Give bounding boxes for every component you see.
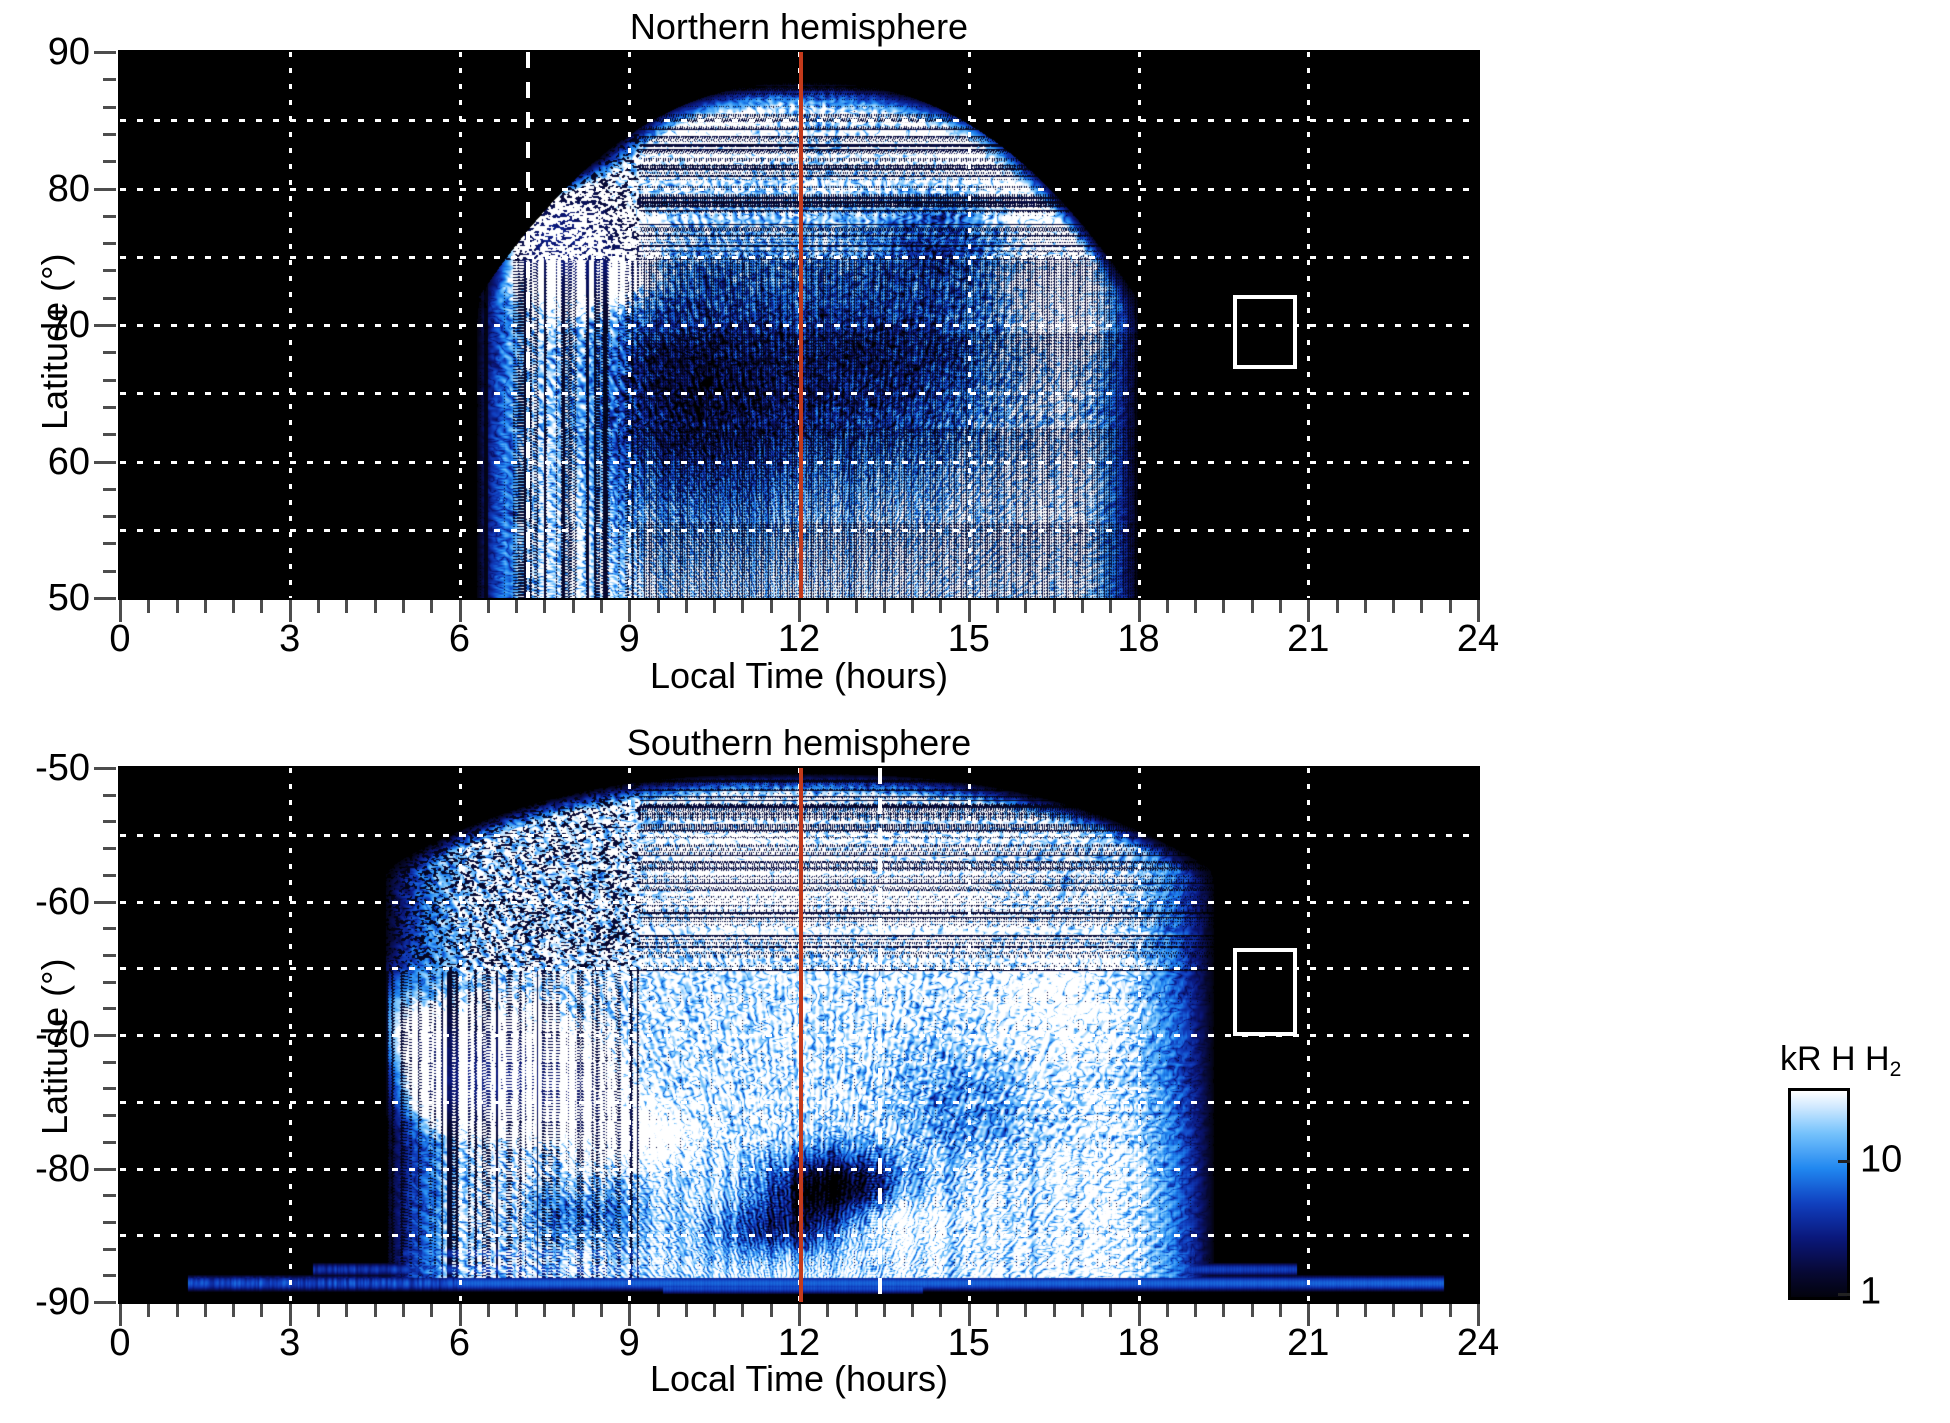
- y-tick-major: [94, 324, 116, 327]
- y-tick-label: -90: [0, 1283, 90, 1321]
- y-tick-label: -60: [0, 883, 90, 921]
- yaxis-title-south: Latitude (°): [34, 959, 76, 1135]
- x-tick-label: 12: [778, 620, 820, 658]
- x-tick-label: 0: [109, 620, 130, 658]
- x-tick-minor: [374, 600, 377, 613]
- x-tick-minor: [147, 600, 150, 613]
- x-tick-major: [289, 600, 292, 622]
- y-tick-minor: [103, 794, 116, 797]
- plot-south: [118, 766, 1480, 1304]
- y-tick-minor: [103, 515, 116, 518]
- colorbar-title-subscript: 2: [1890, 1058, 1902, 1081]
- x-tick-minor: [1336, 1304, 1339, 1317]
- x-tick-minor: [402, 600, 405, 613]
- x-tick-label: 18: [1117, 1324, 1159, 1362]
- x-tick-minor: [572, 1304, 575, 1317]
- x-tick-minor: [713, 1304, 716, 1317]
- y-tick-major: [94, 767, 116, 770]
- y-tick-minor: [103, 847, 116, 850]
- y-tick-minor: [103, 215, 116, 218]
- y-tick-minor: [103, 1248, 116, 1251]
- colorbar-gradient: [1788, 1088, 1850, 1300]
- x-tick-minor: [1024, 600, 1027, 613]
- x-tick-minor: [1449, 600, 1452, 613]
- x-tick-minor: [657, 600, 660, 613]
- y-tick-minor: [103, 1061, 116, 1064]
- y-tick-minor: [103, 1087, 116, 1090]
- x-tick-minor: [176, 1304, 179, 1317]
- x-tick-minor: [487, 1304, 490, 1317]
- x-tick-label: 15: [948, 1324, 990, 1362]
- y-tick-minor: [103, 351, 116, 354]
- x-tick-minor: [600, 600, 603, 613]
- x-tick-minor: [939, 1304, 942, 1317]
- y-tick-minor: [103, 1274, 116, 1277]
- x-tick-minor: [1279, 1304, 1282, 1317]
- x-tick-minor: [1053, 600, 1056, 613]
- x-tick-minor: [741, 600, 744, 613]
- y-tick-minor: [103, 379, 116, 382]
- x-tick-minor: [911, 1304, 914, 1317]
- x-tick-minor: [1251, 1304, 1254, 1317]
- x-tick-minor: [260, 1304, 263, 1317]
- x-tick-minor: [1449, 1304, 1452, 1317]
- xaxis-title-north: Local Time (hours): [118, 655, 1480, 697]
- x-tick-minor: [345, 1304, 348, 1317]
- x-tick-major: [1138, 1304, 1141, 1326]
- y-tick-minor: [103, 242, 116, 245]
- x-tick-minor: [883, 1304, 886, 1317]
- x-tick-major: [968, 1304, 971, 1326]
- y-tick-minor: [103, 1007, 116, 1010]
- x-tick-minor: [657, 1304, 660, 1317]
- y-tick-minor: [103, 106, 116, 109]
- x-tick-minor: [996, 600, 999, 613]
- colorbar-tick-label-10: 10: [1860, 1139, 1902, 1182]
- x-tick-minor: [1222, 600, 1225, 613]
- y-tick-minor: [103, 874, 116, 877]
- x-tick-major: [1307, 1304, 1310, 1326]
- dashed-reference-line-south: [878, 768, 882, 1302]
- y-tick-minor: [103, 488, 116, 491]
- y-tick-label: 80: [0, 170, 90, 208]
- y-tick-label: -80: [0, 1150, 90, 1188]
- x-tick-minor: [260, 600, 263, 613]
- dashed-reference-line-north: [526, 52, 530, 598]
- x-tick-minor: [770, 1304, 773, 1317]
- x-tick-major: [119, 1304, 122, 1326]
- y-tick-major: [94, 597, 116, 600]
- colorbar-title-text: kR H: [1780, 1040, 1856, 1078]
- x-tick-major: [1477, 1304, 1480, 1326]
- x-tick-minor: [855, 600, 858, 613]
- x-tick-minor: [1251, 600, 1254, 613]
- x-tick-minor: [317, 1304, 320, 1317]
- x-tick-minor: [1109, 1304, 1112, 1317]
- colorbar-tick: [1838, 1160, 1850, 1163]
- x-tick-minor: [147, 1304, 150, 1317]
- y-tick-minor: [103, 1194, 116, 1197]
- x-tick-minor: [1392, 1304, 1395, 1317]
- xaxis-title-south: Local Time (hours): [118, 1358, 1480, 1400]
- x-tick-minor: [1109, 600, 1112, 613]
- y-tick-minor: [103, 160, 116, 163]
- y-tick-major: [94, 51, 116, 54]
- noon-reference-line-north: [799, 52, 803, 598]
- x-tick-minor: [600, 1304, 603, 1317]
- x-tick-label: 0: [109, 1324, 130, 1362]
- x-tick-minor: [1364, 1304, 1367, 1317]
- y-tick-minor: [103, 269, 116, 272]
- x-tick-major: [1307, 600, 1310, 622]
- x-tick-minor: [572, 600, 575, 613]
- y-tick-major: [94, 188, 116, 191]
- x-tick-minor: [176, 600, 179, 613]
- x-tick-major: [1138, 600, 1141, 622]
- colorbar-tick: [1838, 1293, 1850, 1296]
- y-tick-minor: [103, 433, 116, 436]
- y-tick-minor: [103, 820, 116, 823]
- x-tick-minor: [1194, 600, 1197, 613]
- y-tick-minor: [103, 981, 116, 984]
- x-tick-minor: [939, 600, 942, 613]
- x-tick-major: [459, 600, 462, 622]
- markers-south: [120, 768, 1478, 1302]
- y-tick-minor: [103, 570, 116, 573]
- x-tick-major: [798, 600, 801, 622]
- x-tick-minor: [855, 1304, 858, 1317]
- x-tick-minor: [430, 600, 433, 613]
- x-tick-label: 3: [279, 620, 300, 658]
- x-tick-label: 18: [1117, 620, 1159, 658]
- x-tick-major: [1477, 600, 1480, 622]
- x-tick-minor: [1392, 600, 1395, 613]
- x-tick-major: [289, 1304, 292, 1326]
- x-tick-label: 12: [778, 1324, 820, 1362]
- x-tick-minor: [996, 1304, 999, 1317]
- panel-title-south: Southern hemisphere: [118, 722, 1480, 764]
- x-tick-minor: [1081, 600, 1084, 613]
- x-tick-label: 9: [619, 620, 640, 658]
- x-tick-minor: [1166, 1304, 1169, 1317]
- x-tick-minor: [487, 600, 490, 613]
- x-tick-minor: [317, 600, 320, 613]
- x-tick-minor: [1336, 600, 1339, 613]
- x-tick-major: [968, 600, 971, 622]
- y-tick-minor: [103, 1114, 116, 1117]
- yaxis-title-north: Latitude (°): [34, 254, 76, 430]
- x-tick-minor: [345, 600, 348, 613]
- y-tick-label: 90: [0, 33, 90, 71]
- x-tick-major: [628, 600, 631, 622]
- y-tick-major: [94, 1168, 116, 1171]
- x-tick-minor: [1420, 600, 1423, 613]
- x-tick-minor: [883, 600, 886, 613]
- x-tick-label: 21: [1287, 1324, 1329, 1362]
- x-tick-label: 24: [1457, 620, 1499, 658]
- y-tick-major: [94, 1301, 116, 1304]
- x-tick-minor: [204, 600, 207, 613]
- y-tick-major: [94, 461, 116, 464]
- x-tick-minor: [204, 1304, 207, 1317]
- x-tick-minor: [1364, 600, 1367, 613]
- x-tick-minor: [1222, 1304, 1225, 1317]
- x-tick-minor: [1194, 1304, 1197, 1317]
- x-tick-minor: [430, 1304, 433, 1317]
- x-tick-label: 3: [279, 1324, 300, 1362]
- x-tick-minor: [770, 600, 773, 613]
- x-tick-minor: [685, 600, 688, 613]
- y-tick-label: 50: [0, 579, 90, 617]
- x-tick-minor: [685, 1304, 688, 1317]
- x-tick-minor: [232, 600, 235, 613]
- x-tick-minor: [1279, 600, 1282, 613]
- x-tick-minor: [826, 600, 829, 613]
- region-box-north: [1233, 295, 1297, 369]
- colorbar-tick-label-1: 1: [1860, 1271, 1881, 1314]
- x-tick-minor: [232, 1304, 235, 1317]
- y-tick-major: [94, 1034, 116, 1037]
- y-tick-minor: [103, 927, 116, 930]
- y-tick-minor: [103, 297, 116, 300]
- y-tick-minor: [103, 542, 116, 545]
- y-tick-major: [94, 901, 116, 904]
- x-tick-major: [628, 1304, 631, 1326]
- markers-north: [120, 52, 1478, 598]
- x-tick-minor: [1024, 1304, 1027, 1317]
- x-tick-major: [459, 1304, 462, 1326]
- x-tick-label: 24: [1457, 1324, 1499, 1362]
- y-tick-minor: [103, 406, 116, 409]
- panel-title-north: Northern hemisphere: [118, 6, 1480, 48]
- x-tick-label: 6: [449, 620, 470, 658]
- x-tick-label: 15: [948, 620, 990, 658]
- x-tick-minor: [515, 600, 518, 613]
- x-tick-label: 21: [1287, 620, 1329, 658]
- x-tick-minor: [1166, 600, 1169, 613]
- x-tick-minor: [826, 1304, 829, 1317]
- x-tick-major: [798, 1304, 801, 1326]
- x-tick-minor: [713, 600, 716, 613]
- y-tick-minor: [103, 78, 116, 81]
- region-box-south: [1233, 948, 1297, 1036]
- x-tick-minor: [515, 1304, 518, 1317]
- x-tick-label: 6: [449, 1324, 470, 1362]
- x-tick-minor: [1053, 1304, 1056, 1317]
- x-tick-minor: [1081, 1304, 1084, 1317]
- y-tick-minor: [103, 133, 116, 136]
- y-tick-label: -50: [0, 749, 90, 787]
- colorbar-title: kR H H2: [1780, 1040, 1901, 1079]
- x-tick-minor: [543, 600, 546, 613]
- x-tick-label: 9: [619, 1324, 640, 1362]
- x-tick-minor: [402, 1304, 405, 1317]
- plot-north: [118, 50, 1480, 600]
- x-tick-minor: [374, 1304, 377, 1317]
- x-tick-minor: [1420, 1304, 1423, 1317]
- x-tick-minor: [741, 1304, 744, 1317]
- y-tick-label: 60: [0, 443, 90, 481]
- x-tick-minor: [543, 1304, 546, 1317]
- x-tick-major: [119, 600, 122, 622]
- y-tick-minor: [103, 1221, 116, 1224]
- noon-reference-line-south: [799, 768, 803, 1302]
- y-tick-minor: [103, 954, 116, 957]
- y-tick-minor: [103, 1141, 116, 1144]
- x-tick-minor: [911, 600, 914, 613]
